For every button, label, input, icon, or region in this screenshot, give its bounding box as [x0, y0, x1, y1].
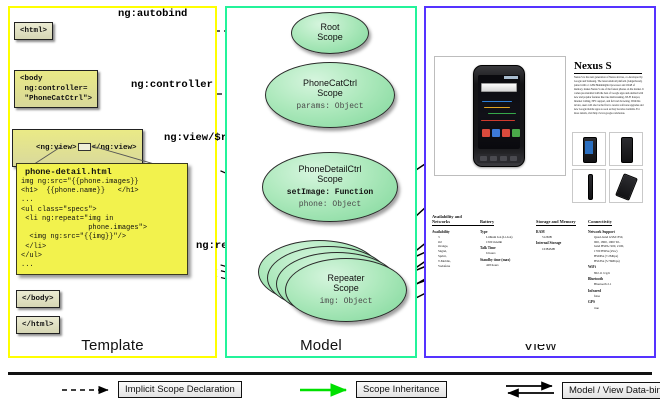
spec-column-battery: Battery Type Lithium Ion (Li-Ion) 1500 m… — [480, 210, 536, 268]
product-title: Nexus S — [574, 60, 612, 72]
spec-value: 1500 mAmh — [480, 240, 536, 245]
phone-statusbar — [478, 75, 520, 80]
ng-view-slot-placeholder — [78, 143, 91, 151]
scope-root-title-line2: Scope — [317, 33, 343, 43]
diagram-canvas: Template <html> <body ng:controller= "Ph… — [0, 0, 660, 420]
spec-value: false — [588, 294, 642, 299]
spec-column-storage: Storage and Memory RAM 512MB Internal St… — [536, 210, 588, 251]
spec-value: 802.11 b/g/n — [588, 271, 642, 276]
product-description: Nexus S is the next generation of Nexus … — [574, 76, 644, 116]
scope-detail-title-line2: Scope — [317, 175, 343, 185]
spec-value: 428 hours — [480, 263, 536, 268]
legend: Implicit Scope Declaration Scope Inherit… — [8, 381, 652, 411]
thumbnail-edge[interactable] — [572, 169, 606, 203]
scope-detail-member-setimage: setImage: Function — [287, 188, 373, 197]
product-specs-table: Availability and Networks Availability 3… — [432, 210, 646, 310]
template-tag-body-open: <body ng:controller= "PhoneCatCtrl"> — [14, 70, 98, 108]
spec-column-availability: Availability and Networks Availability 3… — [432, 210, 480, 268]
scope-detail-member-phone: phone: Object — [299, 200, 361, 209]
phone-hero-image-frame — [434, 56, 566, 176]
legend-label-inheritance: Scope Inheritance — [356, 381, 447, 398]
spec-value: Bluetooth 2.1 — [588, 282, 642, 287]
phone-navbar — [477, 154, 521, 163]
spec-header-storage: Storage and Memory — [536, 219, 576, 226]
scope-phonedetailctrl: PhoneDetailCtrl Scope setImage: Function… — [262, 152, 398, 222]
column-label-model: Model — [227, 337, 415, 354]
legend-label-databinding: Model / View Data-binding — [562, 382, 660, 399]
scope-cat-title-line2: Scope — [317, 89, 343, 99]
spec-value: 16384MB — [536, 247, 588, 252]
product-thumbnail-grid — [572, 132, 646, 206]
phone-search-widget — [481, 83, 517, 92]
scope-phonecatctrl: PhoneCatCtrl Scope params: Object — [265, 62, 395, 128]
spec-value: 6 hours — [480, 251, 536, 256]
thumbnail-back[interactable] — [609, 132, 643, 166]
code-card-filename: phone-detail.html — [17, 164, 187, 178]
spec-value: true — [588, 306, 642, 311]
legend-label-implicit: Implicit Scope Declaration — [118, 381, 242, 398]
spec-header-battery: Battery — [480, 219, 494, 226]
label-ng-controller: ng:controller — [131, 79, 213, 91]
view-rendered-page: Nexus S Nexus S is the next generation o… — [430, 14, 646, 344]
spec-header-availability: Availability and Networks — [432, 214, 480, 226]
scope-repeater: Repeater Scope img: Object — [285, 258, 407, 322]
template-tag-html-open: <html> — [14, 22, 53, 40]
spec-value: HSUPA (5.76Mbps) — [588, 259, 642, 264]
thumbnail-front[interactable] — [572, 132, 606, 166]
scope-rep-member-img: img: Object — [320, 297, 373, 306]
legend-double-arrow-icon — [504, 381, 562, 399]
ng-view-close-label: </ng:view> — [92, 144, 137, 152]
spec-value: Vodafone — [432, 264, 480, 269]
template-tag-ng-view: <ng:view></ng:view> — [12, 129, 143, 167]
spec-header-connectivity: Connectivity — [588, 219, 612, 226]
template-code-card: phone-detail.html img ng:src="{{phone.im… — [16, 163, 188, 275]
scope-root: Root Scope — [291, 12, 369, 54]
legend-green-arrow-icon — [298, 382, 356, 398]
code-card-source: img ng:src="{{phone.images}} <h1> {{phon… — [17, 178, 187, 274]
legend-item-implicit: Implicit Scope Declaration — [60, 381, 242, 398]
legend-dashed-arrow-icon — [60, 382, 118, 398]
phone-screen — [478, 75, 520, 149]
label-ng-autobind: ng:autobind — [118, 8, 187, 20]
column-label-template: Template — [10, 337, 215, 354]
scope-cat-member-params: params: Object — [296, 102, 363, 111]
template-tag-body-close: </body> — [16, 290, 60, 308]
phone-device-illustration — [473, 65, 525, 167]
legend-divider — [8, 372, 652, 375]
thumbnail-angled[interactable] — [609, 169, 643, 203]
scope-rep-title-line2: Scope — [333, 284, 359, 294]
spec-value: 512MB — [536, 235, 588, 240]
template-tag-html-close: </html> — [16, 316, 60, 334]
phone-app-dock — [480, 129, 518, 147]
ng-view-open-label: <ng:view> — [36, 144, 77, 152]
legend-item-inheritance: Scope Inheritance — [298, 381, 447, 398]
legend-item-databinding: Model / View Data-binding — [504, 381, 660, 399]
phone-wallpaper — [478, 92, 520, 130]
spec-column-connectivity: Connectivity Network Support Quad-band G… — [588, 210, 642, 310]
